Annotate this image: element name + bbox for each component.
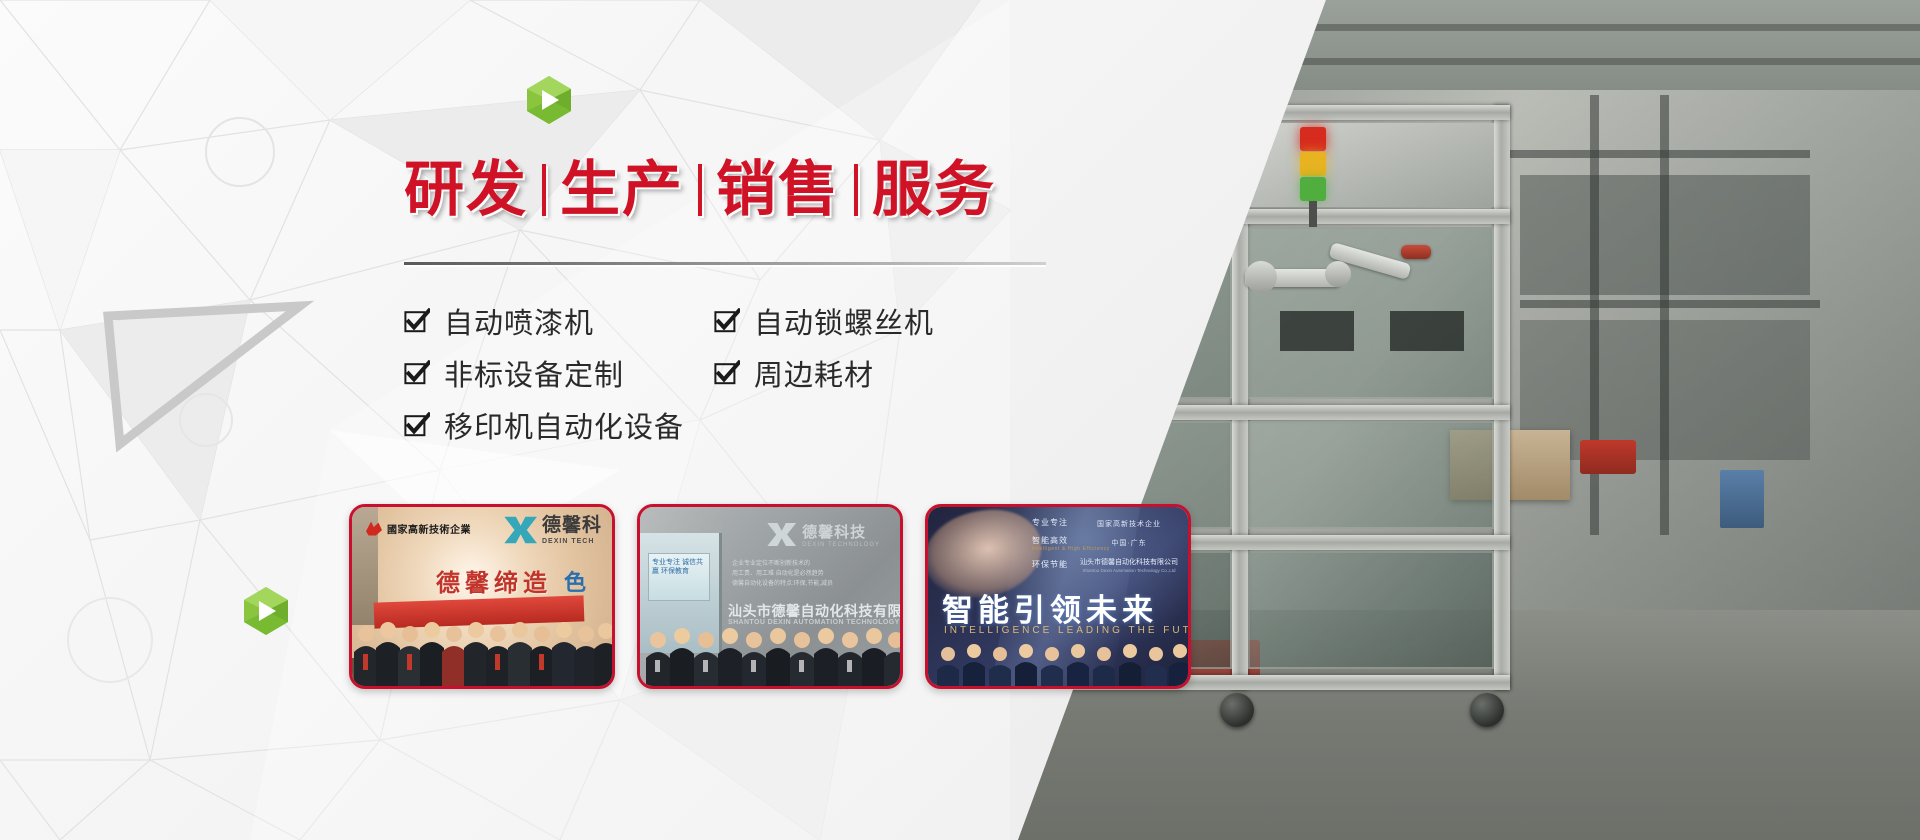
x-logo-icon [503, 515, 537, 545]
feature-list: 自动喷漆机 自动锁螺丝机 非标设备定制 [404, 295, 1024, 451]
checkbox-checked-icon [714, 360, 740, 386]
wall-sign-line: 德馨自动化设备的特点:环保,节能,减员 [732, 579, 882, 589]
card-slogan-secondary: 色 [564, 565, 586, 597]
headline-separator [854, 164, 858, 216]
machine-post [1494, 105, 1510, 690]
banner-content: 研发 生产 销售 服务 自动喷漆机 [0, 0, 1110, 840]
group-photo-people [640, 616, 900, 686]
rack-beam [1520, 300, 1820, 308]
hexagon-icon [523, 74, 575, 126]
feature-item: 非标设备定制 [404, 347, 714, 399]
headline-divider [404, 262, 1046, 265]
poster-company: 汕头市德馨自动化科技有限公司 [1080, 557, 1178, 567]
photo-card-list: 國家高新技術企業 德馨科 DEXIN TECH 德馨缔造 色 [349, 504, 1191, 689]
wall-poster: 专业专注 诚信共赢 环保教育 [648, 553, 710, 601]
rack-post [1660, 95, 1669, 535]
headline-word-2: 生产 [560, 160, 684, 220]
brand-name: 德馨科 [542, 515, 602, 536]
checkbox-checked-icon [404, 308, 430, 334]
headline-separator [542, 164, 546, 216]
blue-bin [1720, 470, 1764, 528]
signal-tower-light [1300, 127, 1326, 223]
hexagon-icon [240, 585, 292, 637]
headline: 研发 生产 销售 服务 [404, 160, 996, 220]
feature-item: 移印机自动化设备 [404, 399, 714, 451]
poster-credential: 中国·广东 [1080, 538, 1178, 548]
wall-sign-line: 企业专业定位不断创新技术的 [732, 559, 882, 569]
machine-module [1390, 311, 1464, 351]
signal-lamp-red [1300, 127, 1326, 151]
machine-post [1232, 105, 1248, 690]
checkbox-checked-icon [404, 412, 430, 438]
poster-credential: 国家高新技术企业 [1080, 519, 1178, 529]
machine-module [1280, 311, 1354, 351]
machine-lower-bay [1248, 551, 1494, 669]
group-photo-people [928, 640, 1188, 686]
machine-panel [1248, 123, 1494, 207]
feature-label: 自动喷漆机 [444, 300, 594, 342]
robot-joint [1245, 261, 1277, 293]
feature-item: 周边耗材 [714, 347, 1014, 399]
checkbox-checked-icon [714, 308, 740, 334]
team-photo-card[interactable]: 國家高新技術企業 德馨科 DEXIN TECH 德馨缔造 色 [349, 504, 615, 689]
machine-glass-door [1248, 421, 1494, 529]
robot-joint [1325, 261, 1351, 287]
rack-shelf [1520, 175, 1810, 295]
headline-word-3: 销售 [716, 160, 840, 220]
tech-poster-card[interactable]: 专业专注 智能高效 Intelligent & High Efficiency … [925, 504, 1191, 689]
feature-item: 自动锁螺丝机 [714, 295, 1014, 347]
flame-icon [366, 522, 382, 536]
card-slogan: 德馨缔造 [436, 563, 552, 598]
wall-sign-lines: 企业专业定位不断创新技术的 用工贵、用工难 自动化是必然趋势 德馨自动化设备的特… [732, 559, 882, 590]
feature-label: 移印机自动化设备 [444, 404, 684, 446]
feature-item: 自动喷漆机 [404, 295, 714, 347]
machine-caster [1470, 693, 1504, 727]
wall-sign-line: 用工贵、用工难 自动化是必然趋势 [732, 569, 882, 579]
machine-caster [1220, 693, 1254, 727]
x-logo-icon [766, 522, 796, 548]
certification-label: 國家高新技術企業 [387, 521, 471, 536]
brand-logo: 德馨科 DEXIN TECH [503, 515, 602, 545]
red-box [1580, 440, 1636, 474]
feature-label: 周边耗材 [754, 352, 874, 394]
poster-company-en: Shantou Dexin Automation Technology Co.,… [1080, 568, 1178, 573]
brand-name-en: DEXIN TECH [542, 538, 602, 545]
poster-title: 智能引领未来 [942, 585, 1158, 630]
machine-module [1120, 311, 1194, 351]
signal-tower-pole [1309, 201, 1317, 227]
checkbox-checked-icon [404, 360, 430, 386]
group-photo-people [352, 604, 612, 686]
signal-lamp-amber [1300, 152, 1326, 176]
headline-separator [698, 164, 702, 216]
headline-word-4: 服务 [872, 160, 996, 220]
brand-logo: 德馨科技 DEXIN TECHNOLOGY [766, 521, 880, 548]
brand-name: 德馨科技 [802, 521, 880, 542]
feature-label: 非标设备定制 [444, 352, 624, 394]
poster-subtitle: INTELLIGENCE LEADING THE FUTURE [944, 625, 1188, 636]
signal-lamp-green [1300, 177, 1326, 201]
wall-poster-text: 专业专注 诚信共赢 环保教育 [649, 554, 709, 581]
headline-word-1: 研发 [404, 160, 528, 220]
certification-badge: 國家高新技術企業 [366, 521, 471, 536]
promo-banner: 研发 生产 销售 服务 自动喷漆机 [0, 0, 1920, 840]
poster-credential-list: 国家高新技术企业 中国·广东 汕头市德馨自动化科技有限公司 Shantou De… [1080, 519, 1178, 573]
lobby-sign-card[interactable]: 专业专注 诚信共赢 环保教育 德馨科技 DEXIN TECHNOLOGY 企业专… [637, 504, 903, 689]
feature-label: 自动锁螺丝机 [754, 300, 934, 342]
robot-end-effector [1401, 245, 1431, 259]
brand-name-en: DEXIN TECHNOLOGY [802, 542, 880, 548]
robot-arm [1245, 243, 1435, 313]
